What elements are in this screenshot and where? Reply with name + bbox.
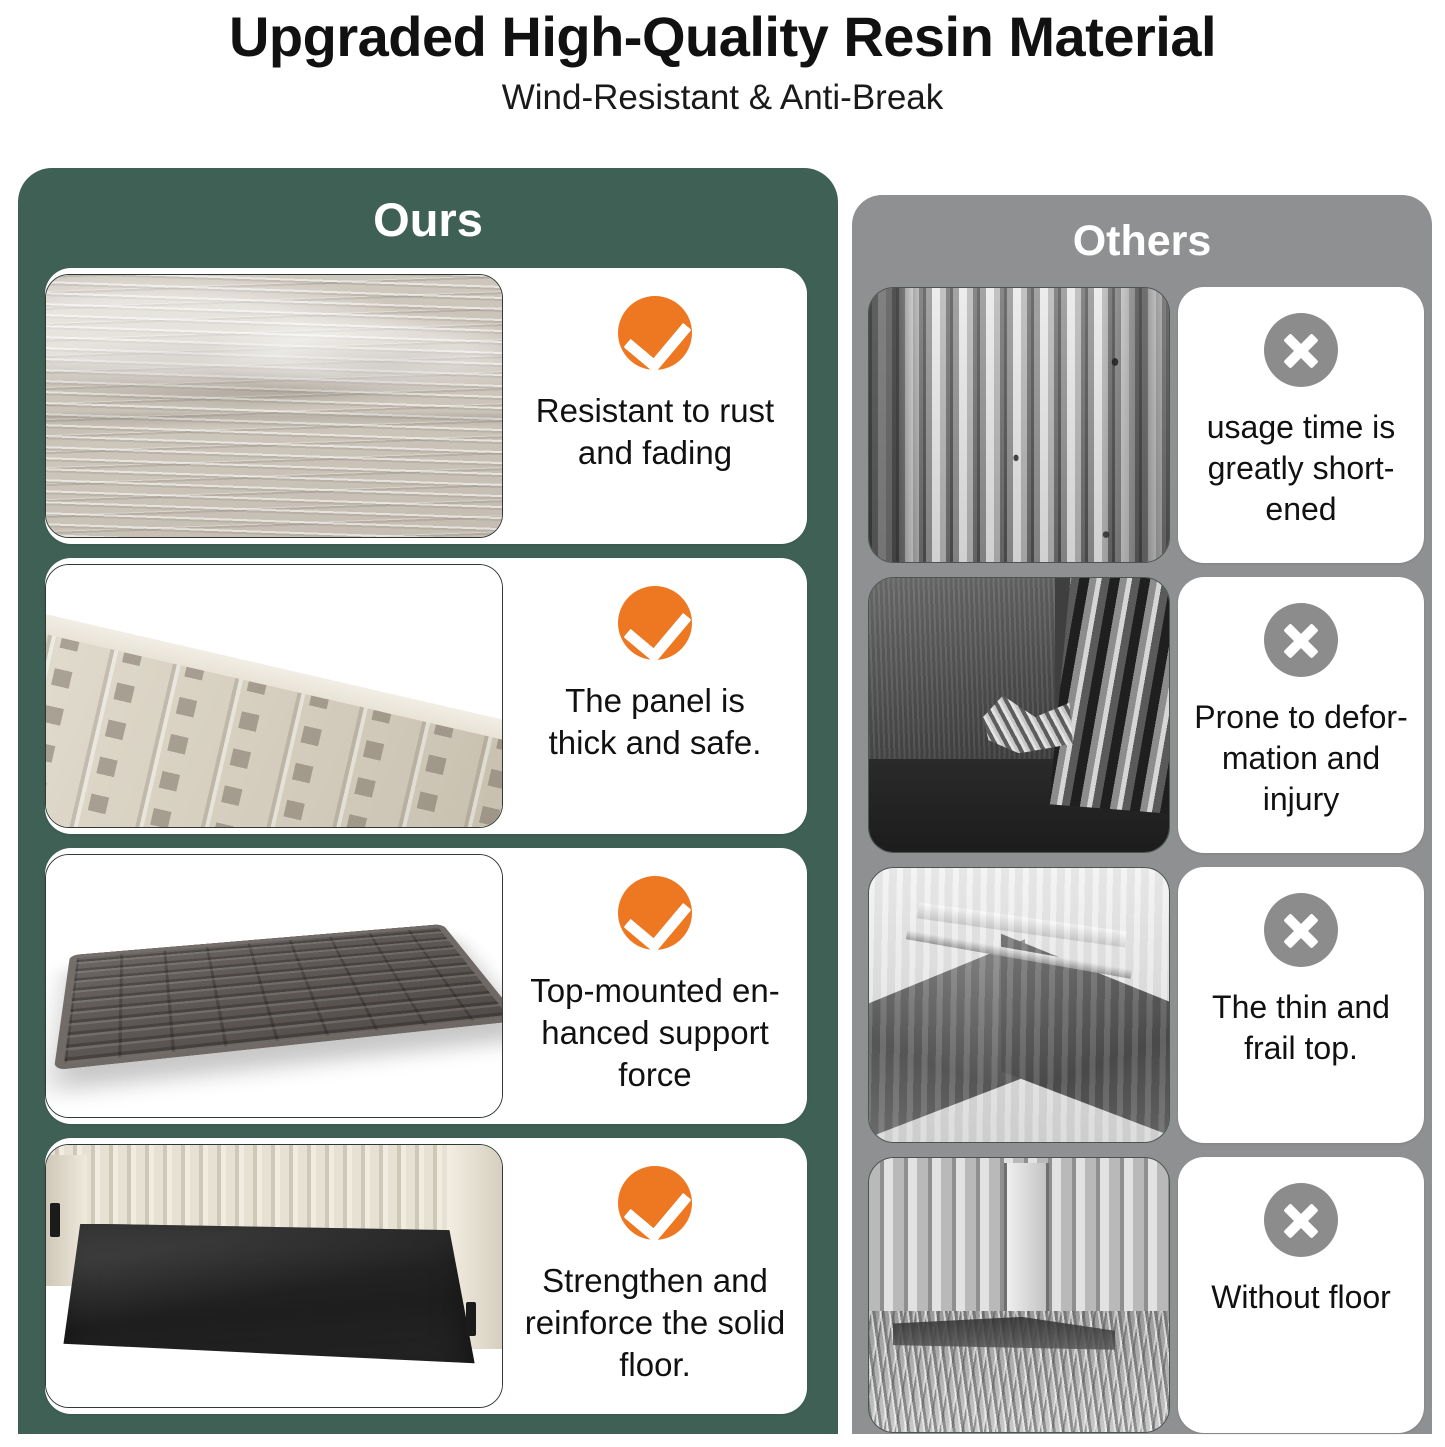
ours-feature-label-2: The panel is thick and safe. bbox=[549, 680, 762, 764]
ours-feature-row-2: The panel is thick and safe. bbox=[45, 558, 807, 834]
check-circle-icon bbox=[618, 586, 692, 660]
infographic-header: Upgraded High-Quality Resin Material Win… bbox=[0, 0, 1445, 122]
deformed-metal-corner-photo bbox=[868, 577, 1170, 853]
x-circle-icon bbox=[1264, 313, 1338, 387]
x-circle-icon bbox=[1264, 1183, 1338, 1257]
x-circle-icon bbox=[1264, 603, 1338, 677]
check-circle-icon bbox=[618, 1166, 692, 1240]
ours-feature-label-3: Top-mounted en- hanced support force bbox=[530, 970, 779, 1096]
others-feature-label-3: The thin and frail top. bbox=[1212, 987, 1390, 1069]
ours-feature-text-4: Strengthen and reinforce the solid floor… bbox=[503, 1138, 807, 1414]
ours-column: Ours Resistant to rust and fading bbox=[18, 168, 838, 1434]
woodgrain-resin-texture-photo bbox=[45, 274, 503, 538]
shed-solid-floor-photo bbox=[45, 1144, 503, 1408]
others-feature-row-1: usage time is greatly short- ened bbox=[868, 287, 1424, 563]
ours-feature-row-1: Resistant to rust and fading bbox=[45, 268, 807, 544]
page-title: Upgraded High-Quality Resin Material bbox=[0, 4, 1445, 70]
check-circle-icon bbox=[618, 876, 692, 950]
others-feature-text-4: Without floor bbox=[1178, 1157, 1424, 1433]
others-row-list: usage time is greatly short- ened Prone … bbox=[852, 287, 1432, 1447]
others-feature-row-4: Without floor bbox=[868, 1157, 1424, 1433]
others-column: Others usage time is greatly short- ened bbox=[852, 195, 1432, 1434]
ours-feature-label-4: Strengthen and reinforce the solid floor… bbox=[525, 1260, 785, 1386]
others-feature-label-1: usage time is greatly short- ened bbox=[1207, 407, 1396, 530]
x-circle-icon bbox=[1264, 893, 1338, 967]
metal-shed-no-floor-grass-photo bbox=[868, 1157, 1170, 1433]
ours-feature-label-1: Resistant to rust and fading bbox=[536, 390, 774, 474]
ours-row-list: Resistant to rust and fading The panel i… bbox=[18, 268, 838, 1428]
ours-feature-text-3: Top-mounted en- hanced support force bbox=[503, 848, 807, 1124]
others-feature-label-2: Prone to defor- mation and injury bbox=[1194, 697, 1407, 820]
ours-feature-row-3: Top-mounted en- hanced support force bbox=[45, 848, 807, 1124]
page-subtitle: Wind-Resistant & Anti-Break bbox=[0, 74, 1445, 122]
ours-feature-text-1: Resistant to rust and fading bbox=[503, 268, 807, 544]
rusted-corrugated-metal-photo bbox=[868, 287, 1170, 563]
ribbed-floor-tray-photo bbox=[45, 854, 503, 1118]
others-feature-row-3: The thin and frail top. bbox=[868, 867, 1424, 1143]
thin-metal-roof-ridge-photo bbox=[868, 867, 1170, 1143]
ours-feature-row-4: Strengthen and reinforce the solid floor… bbox=[45, 1138, 807, 1414]
ours-feature-text-2: The panel is thick and safe. bbox=[503, 558, 807, 834]
check-circle-icon bbox=[618, 296, 692, 370]
others-feature-row-2: Prone to defor- mation and injury bbox=[868, 577, 1424, 853]
others-feature-text-1: usage time is greatly short- ened bbox=[1178, 287, 1424, 563]
ours-column-heading: Ours bbox=[18, 168, 838, 247]
slotted-resin-panel-photo bbox=[45, 564, 503, 828]
comparison-table: Ours Resistant to rust and fading bbox=[0, 168, 1445, 1434]
others-feature-text-3: The thin and frail top. bbox=[1178, 867, 1424, 1143]
others-feature-text-2: Prone to defor- mation and injury bbox=[1178, 577, 1424, 853]
others-feature-label-4: Without floor bbox=[1211, 1277, 1391, 1318]
others-column-heading: Others bbox=[852, 195, 1432, 267]
